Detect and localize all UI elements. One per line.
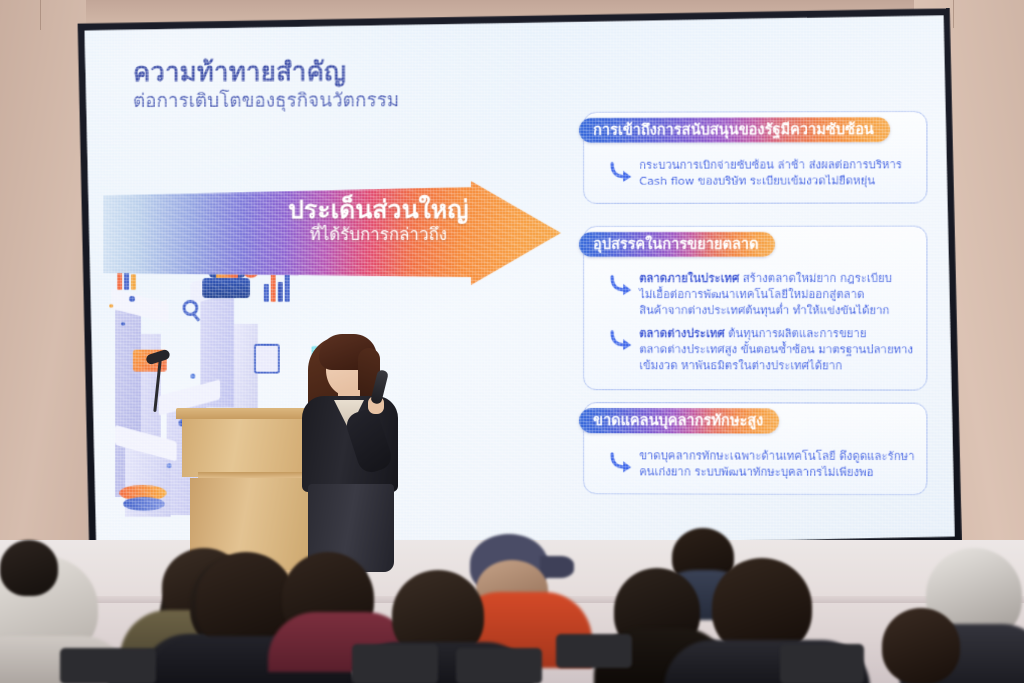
- challenge-card-1-heading: การเข้าถึงการสนับสนุนของรัฐมีความซับซ้อน: [579, 117, 890, 143]
- bullet-line: สร้างตลาดใหม่ยาก กฎระเบียบ: [743, 272, 892, 285]
- challenge-card-2-bullet-2-text: ตลาดต่างประเทศ ต้นทุนการผลิตและการขยาย ต…: [639, 326, 913, 375]
- podium-face: [182, 419, 318, 477]
- page-subtitle: ต่อการเติบโตของธุรกิจนวัตกรรม: [133, 89, 399, 112]
- challenge-card-3-bullet-1: ขาดบุคลากรทักษะเฉพาะด้านเทคโนโลยี ดึงดูด…: [609, 448, 925, 481]
- challenge-card-3-heading: ขาดแคลนบุคลากรทักษะสูง: [579, 408, 779, 433]
- bullet-line: ต้นทุนการผลิตและการขยาย: [728, 327, 866, 340]
- bullet-line: คนเก่งยาก ระบบพัฒนาทักษะบุคลากรไม่เพียงพ…: [639, 465, 873, 479]
- challenge-card-3-bullet-1-text: ขาดบุคลากรทักษะเฉพาะด้านเทคโนโลยี ดึงดูด…: [639, 448, 914, 481]
- chair: [456, 648, 542, 683]
- challenge-card-1-bullet-1-text: กระบวนการเบิกจ่ายซับซ้อน ล่าช้า ส่งผลต่อ…: [639, 157, 902, 190]
- page-title: ความท้าทายสำคัญ: [133, 58, 399, 88]
- challenge-card-2-bullet-1-text: ตลาดภายในประเทศ สร้างตลาดใหม่ยาก กฎระเบี…: [639, 271, 892, 319]
- bullet-lead: ตลาดภายในประเทศ: [639, 272, 739, 285]
- audience-cap-brim: [540, 556, 574, 578]
- curved-arrow-right-icon: [609, 158, 639, 189]
- bullet-line: Cash flow ของบริษัท ระเบียบเข้มงวดไม่ยืด…: [639, 174, 875, 187]
- wall-seam: [40, 0, 41, 30]
- curved-arrow-right-icon: [609, 271, 639, 302]
- challenge-card-1-bullet-1: กระบวนการเบิกจ่ายซับซ้อน ล่าช้า ส่งผลต่อ…: [609, 157, 921, 190]
- conference-room: ความท้าทายสำคัญ ต่อการเติบโตของธุรกิจนวั…: [0, 0, 1024, 683]
- challenge-card-2-heading: อุปสรรคในการขยายตลาด: [579, 232, 775, 257]
- bullet-line: กระบวนการเบิกจ่ายซับซ้อน ล่าช้า ส่งผลต่อ…: [639, 158, 902, 172]
- presenter: [300, 334, 408, 572]
- audience-head: [0, 540, 58, 596]
- bullet-line: เข้มงวด หาพันธมิตรในต่างประเทศได้ยาก: [639, 359, 842, 372]
- audience-head: [882, 608, 960, 683]
- slide-heading-group: ความท้าทายสำคัญ ต่อการเติบโตของธุรกิจนวั…: [133, 58, 399, 112]
- chair: [780, 644, 864, 683]
- chair: [60, 648, 156, 683]
- chair: [556, 634, 632, 668]
- challenge-card-2-bullet-2: ตลาดต่างประเทศ ต้นทุนการผลิตและการขยาย ต…: [609, 326, 927, 375]
- bullet-lead: ตลาดต่างประเทศ: [639, 327, 724, 340]
- bullet-line: ขาดบุคลากรทักษะเฉพาะด้านเทคโนโลยี ดึงดูด…: [639, 449, 914, 463]
- challenge-card-2-bullet-1: ตลาดภายในประเทศ สร้างตลาดใหม่ยาก กฎระเบี…: [609, 271, 923, 319]
- curved-arrow-right-icon: [609, 448, 639, 479]
- bullet-line: ตลาดต่างประเทศสูง ขั้นตอนซ้ำซ้อน มาตรฐาน…: [639, 343, 913, 356]
- bullet-line: ไม่เอื้อต่อการพัฒนาเทคโนโลยีใหม่ออกสู่ตล…: [639, 288, 864, 301]
- highlight-arrow-banner: [103, 181, 561, 285]
- bullet-line: สินค้าจากต่างประเทศต้นทุนต่ำ ทำให้แข่งขั…: [639, 304, 889, 317]
- curved-arrow-right-icon: [609, 326, 639, 357]
- chair: [352, 644, 438, 683]
